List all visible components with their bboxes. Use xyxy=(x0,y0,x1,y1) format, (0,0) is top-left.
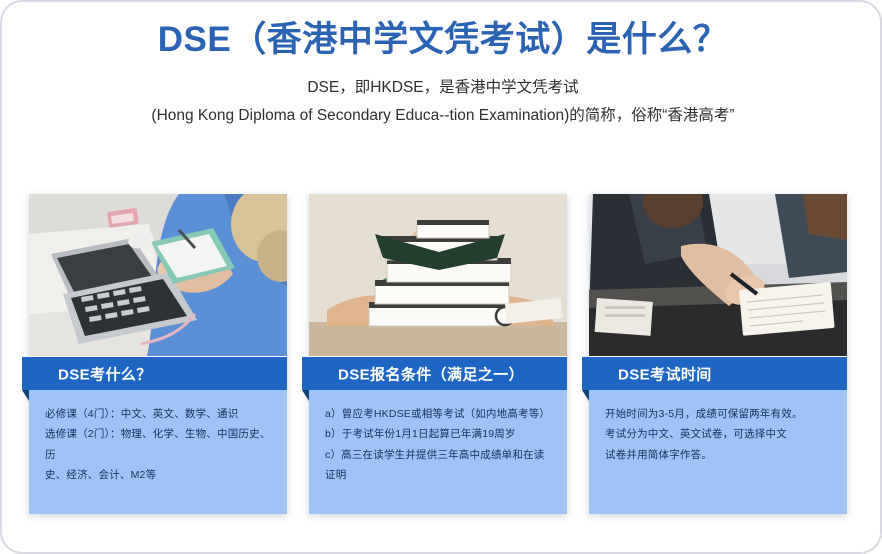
card-ribbon: DSE考什么？ xyxy=(22,357,287,390)
photo-person-writing-notebook-desk xyxy=(589,194,847,356)
card-body-line: 试卷并用简体字作答。 xyxy=(605,445,831,465)
card-title: DSE考什么？ xyxy=(58,363,152,384)
card-body: a）曾应考HKDSE或相等考试（如内地高考等） b）于考试年份1月1日起算已年满… xyxy=(309,390,567,514)
card-body-line: c）高三在读学生并提供三年高中成绩单和在读证明 xyxy=(325,445,551,486)
ribbon-fold-icon xyxy=(582,390,589,401)
card-body-line: 史、经济、会计、M2等 xyxy=(45,465,271,485)
card-body-line: b）于考试年份1月1日起算已年满19周岁 xyxy=(325,424,551,444)
photo-student-laptop-notebook-svg xyxy=(29,194,287,356)
card-title: DSE考试时间 xyxy=(618,363,712,384)
page-header: DSE（香港中学文凭考试）是什么？ DSE，即HKDSE，是香港中学文凭考试 (… xyxy=(2,2,882,131)
photo-student-books-stack xyxy=(309,194,567,356)
photo-person-writing-notebook-desk-svg xyxy=(589,194,847,356)
subtitle-line-2: (Hong Kong Diploma of Secondary Educa--t… xyxy=(2,102,882,131)
ribbon-fold-icon xyxy=(302,390,309,401)
infographic-page: DSE（香港中学文凭考试）是什么？ DSE，即HKDSE，是香港中学文凭考试 (… xyxy=(0,0,882,554)
subtitle-line-1: DSE，即HKDSE，是香港中学文凭考试 xyxy=(2,74,882,103)
card-body-line: 必修课（4门）：中文、英文、数学、通识 xyxy=(45,404,271,424)
card-dse-requirements[interactable]: DSE报名条件（满足之一） a）曾应考HKDSE或相等考试（如内地高考等） b）… xyxy=(309,188,567,514)
card-body: 开始时间为3-5月，成绩可保留两年有效。 考试分为中文、英文试卷，可选择中文 试… xyxy=(589,390,847,514)
card-body-line: 开始时间为3-5月，成绩可保留两年有效。 xyxy=(605,404,831,424)
card-row: DSE考什么？ 必修课（4门）：中文、英文、数学、通识 选修课（2门）：物理、化… xyxy=(2,188,882,528)
photo-student-books-stack-svg xyxy=(309,194,567,356)
card-title: DSE报名条件（满足之一） xyxy=(338,363,524,384)
card-dse-exam-time[interactable]: DSE考试时间 开始时间为3-5月，成绩可保留两年有效。 考试分为中文、英文试卷… xyxy=(589,188,847,514)
card-ribbon: DSE报名条件（满足之一） xyxy=(302,357,567,390)
card-body-line: a）曾应考HKDSE或相等考试（如内地高考等） xyxy=(325,404,551,424)
page-title: DSE（香港中学文凭考试）是什么？ xyxy=(2,2,882,62)
card-dse-subjects[interactable]: DSE考什么？ 必修课（4门）：中文、英文、数学、通识 选修课（2门）：物理、化… xyxy=(29,188,287,514)
card-body: 必修课（4门）：中文、英文、数学、通识 选修课（2门）：物理、化学、生物、中国历… xyxy=(29,390,287,514)
ribbon-fold-icon xyxy=(22,390,29,401)
photo-student-laptop-notebook xyxy=(29,194,287,356)
subtitle-block: DSE，即HKDSE，是香港中学文凭考试 (Hong Kong Diploma … xyxy=(2,74,882,131)
card-ribbon: DSE考试时间 xyxy=(582,357,847,390)
card-body-line: 考试分为中文、英文试卷，可选择中文 xyxy=(605,424,831,444)
card-body-line: 选修课（2门）：物理、化学、生物、中国历史、历 xyxy=(45,424,271,465)
